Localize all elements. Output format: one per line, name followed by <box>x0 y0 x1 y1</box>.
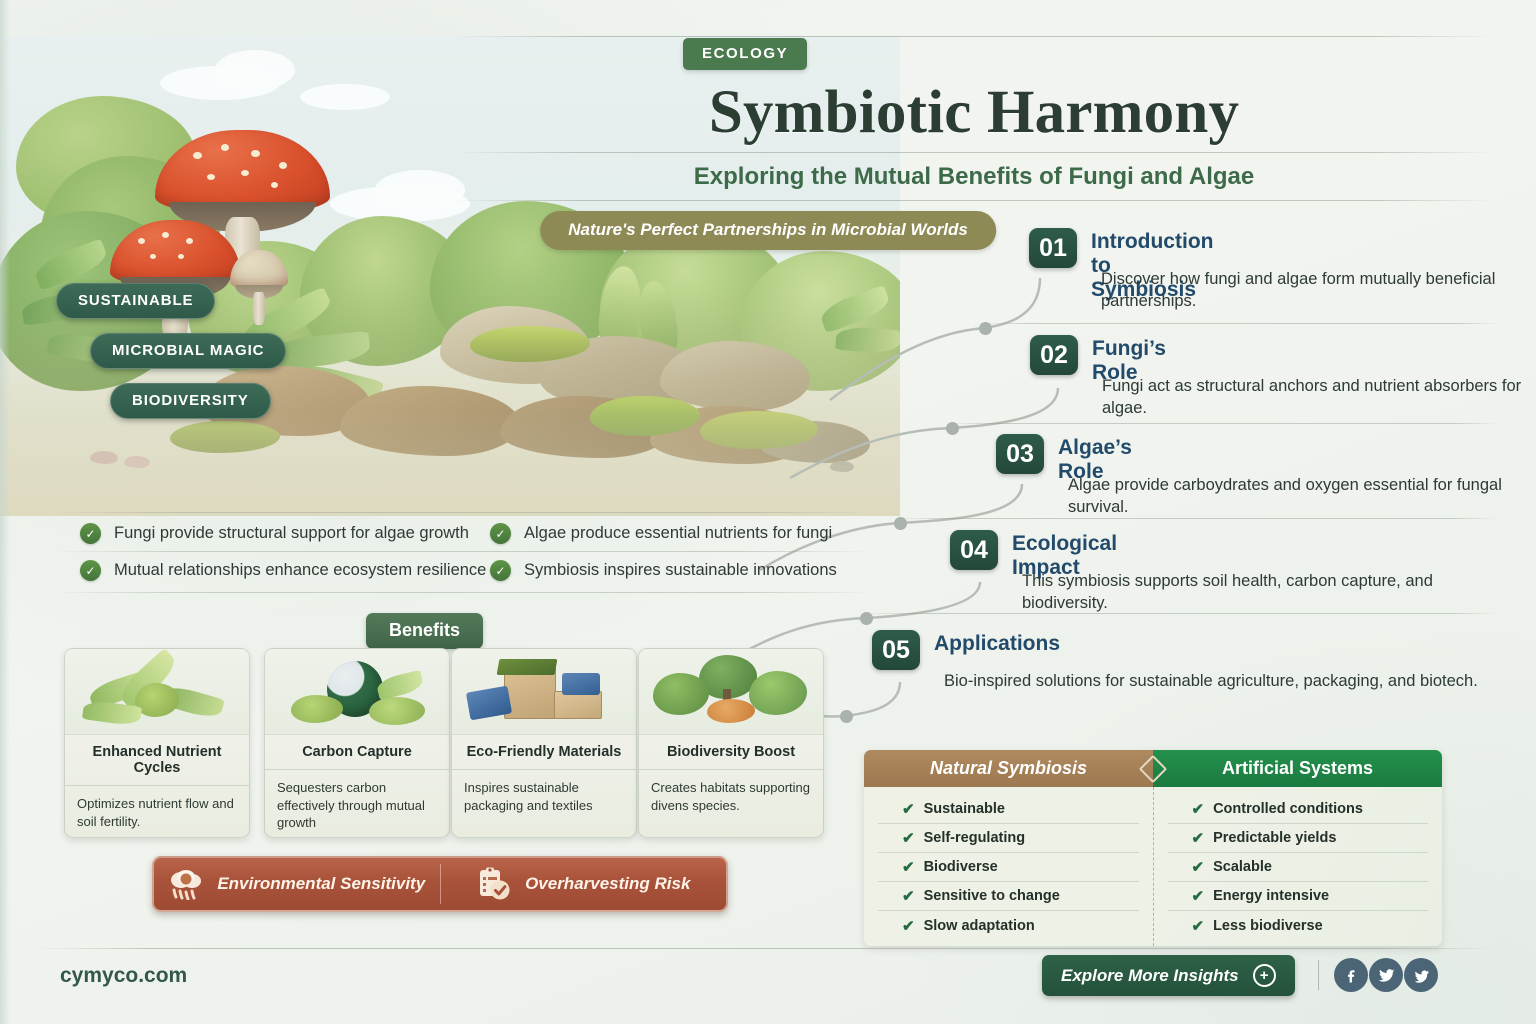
hero-tag-microbial-magic[interactable]: MICROBIAL MAGIC <box>90 333 286 369</box>
benefit-card[interactable]: Eco-Friendly Materials Inspires sustaina… <box>451 648 637 838</box>
comparison-row: ✔Slow adaptation <box>878 911 1139 940</box>
mushroom-spot <box>271 182 278 188</box>
check-icon: ✔ <box>1192 887 1205 905</box>
checklist-label: Fungi provide structural support for alg… <box>114 524 469 543</box>
twitter-bird-glyph <box>1377 966 1396 985</box>
mushroom-spot <box>178 254 184 259</box>
benefits-section-badge: Benefits <box>366 613 483 649</box>
comparison-label: Biodiverse <box>924 859 998 875</box>
benefit-description: Inspires sustainable packaging and texti… <box>452 770 636 823</box>
check-icon: ✓ <box>80 560 101 581</box>
comparison-label: Self-regulating <box>924 830 1026 846</box>
risk-banner: Environmental Sensitivity Overharvesting… <box>152 856 728 912</box>
comparison-row: ✔Less biodiverse <box>1168 911 1429 940</box>
comparison-label: Controlled conditions <box>1213 801 1363 817</box>
step-description: Fungi act as structural anchors and nutr… <box>1102 375 1536 420</box>
connector-dot <box>840 710 853 723</box>
benefit-thumbnail <box>265 649 449 735</box>
facebook-icon[interactable] <box>1334 958 1368 992</box>
infographic-canvas: ECOLOGY Symbiotic Harmony Exploring the … <box>0 0 1536 1024</box>
comparison-label: Predictable yields <box>1213 830 1336 846</box>
benefit-description: Creates habitats supporting divens speci… <box>639 770 823 823</box>
mushroom-spot <box>221 144 229 151</box>
checklist-label: Mutual relationships enhance ecosystem r… <box>114 561 486 580</box>
footer-separator <box>1318 960 1319 990</box>
moss-icon <box>291 695 343 723</box>
step-number-badge: 01 <box>1029 228 1077 268</box>
benefit-title: Enhanced Nutrient Cycles <box>65 735 249 786</box>
explore-more-button[interactable]: Explore More Insights + <box>1042 955 1295 996</box>
mushroom-spot <box>138 238 145 244</box>
comparison-row: ✔Predictable yields <box>1168 824 1429 853</box>
step-divider <box>894 518 1498 519</box>
comparison-label: Scalable <box>1213 859 1272 875</box>
twitter-icon[interactable] <box>1369 958 1403 992</box>
cloud-icon <box>215 50 295 90</box>
mushroom-spot <box>207 174 215 180</box>
checklist-mid-rule <box>62 551 862 552</box>
tagline-badge: Nature's Perfect Partnerships in Microbi… <box>540 211 996 250</box>
comparison-column-natural: ✔Sustainable ✔Self-regulating ✔Biodivers… <box>864 787 1154 946</box>
check-icon: ✓ <box>490 523 511 544</box>
comparison-table: Natural Symbiosis Artificial Systems ✔Su… <box>864 750 1442 946</box>
comparison-row: ✔Sensitive to change <box>878 882 1139 911</box>
hero-tag-biodiversity[interactable]: BIODIVERSITY <box>110 383 271 419</box>
fungus-cluster-icon <box>707 699 755 723</box>
comparison-row: ✔Biodiverse <box>878 853 1139 882</box>
benefit-description: Sequesters carbon effectively through mu… <box>265 770 449 838</box>
risk-item[interactable]: Environmental Sensitivity <box>154 868 440 900</box>
benefit-card[interactable]: Enhanced Nutrient Cycles Optimizes nutri… <box>64 648 250 838</box>
twitter-alt-icon[interactable] <box>1404 958 1438 992</box>
check-icon: ✔ <box>902 917 915 935</box>
benefit-card[interactable]: Biodiversity Boost Creates habitats supp… <box>638 648 824 838</box>
checklist-top-rule <box>62 512 862 513</box>
benefit-thumbnail <box>452 649 636 735</box>
footer-divider <box>36 948 1500 949</box>
algae-cluster-icon <box>135 683 179 717</box>
check-icon: ✓ <box>490 560 511 581</box>
clipboard-check-icon <box>476 866 512 902</box>
step-number-badge: 02 <box>1030 335 1078 375</box>
step-divider <box>860 613 1498 614</box>
check-icon: ✔ <box>902 887 915 905</box>
check-icon: ✔ <box>1192 858 1205 876</box>
comparison-label: Sustainable <box>924 801 1005 817</box>
check-icon: ✔ <box>1192 917 1205 935</box>
hero-tag-sustainable[interactable]: SUSTAINABLE <box>56 283 215 319</box>
step-description: This symbiosis supports soil health, car… <box>1022 570 1482 615</box>
benefit-title: Eco-Friendly Materials <box>452 735 636 770</box>
facebook-glyph <box>1342 966 1360 984</box>
checklist-label: Algae produce essential nutrients for fu… <box>524 524 832 543</box>
step-divider <box>978 323 1498 324</box>
benefit-title: Biodiversity Boost <box>639 735 823 770</box>
benefit-card[interactable]: Carbon Capture Sequesters carbon effecti… <box>264 648 450 838</box>
comparison-label: Less biodiverse <box>1213 918 1323 934</box>
category-badge: ECOLOGY <box>683 38 807 70</box>
cloud-icon <box>300 84 390 110</box>
comparison-row: ✔Controlled conditions <box>1168 795 1429 824</box>
comparison-header-left: Natural Symbiosis <box>864 750 1153 787</box>
comparison-column-artificial: ✔Controlled conditions ✔Predictable yiel… <box>1154 787 1443 946</box>
check-icon: ✔ <box>902 800 915 818</box>
step-title: Applications <box>934 632 1060 656</box>
shrub-icon <box>749 671 807 715</box>
twitter-bird-alt-glyph <box>1412 966 1431 985</box>
mushroom-spot <box>251 150 260 157</box>
box-lid-icon <box>497 659 558 675</box>
shrub-icon <box>653 673 709 715</box>
mushroom-spot <box>193 152 202 159</box>
crate-icon <box>562 673 600 695</box>
checklist-item: ✓ Algae produce essential nutrients for … <box>490 523 832 544</box>
comparison-row: ✔Self-regulating <box>878 824 1139 853</box>
subtitle-underline-rule <box>452 200 1496 201</box>
comparison-label: Sensitive to change <box>924 888 1060 904</box>
check-icon: ✔ <box>1192 829 1205 847</box>
benefit-thumbnail <box>639 649 823 735</box>
benefit-thumbnail <box>65 649 249 735</box>
checklist-bottom-rule <box>62 592 862 593</box>
page-title: Symbiotic Harmony <box>452 78 1496 148</box>
mushroom-spot <box>162 232 169 238</box>
box-icon <box>554 691 602 719</box>
comparison-label: Slow adaptation <box>924 918 1035 934</box>
brand-label: cymyco.com <box>60 964 187 988</box>
page-subtitle: Exploring the Mutual Benefits of Fungi a… <box>452 163 1496 191</box>
left-edge-shade <box>0 0 10 1024</box>
leaf-icon <box>375 670 424 701</box>
title-underline-rule <box>452 152 1496 153</box>
risk-label: Overharvesting Risk <box>525 874 690 894</box>
mushroom-spot <box>279 162 287 169</box>
comparison-header-right: Artificial Systems <box>1153 750 1442 787</box>
check-icon: ✔ <box>1192 800 1205 818</box>
step-divider <box>946 423 1498 424</box>
check-icon: ✔ <box>902 858 915 876</box>
step-number-badge: 05 <box>872 630 920 670</box>
benefit-title: Carbon Capture <box>265 735 449 770</box>
cloud-rain-icon <box>168 868 204 900</box>
checklist-label: Symbiosis inspires sustainable innovatio… <box>524 561 837 580</box>
comparison-row: ✔Energy intensive <box>1168 882 1429 911</box>
benefit-description: Optimizes nutrient flow and soil fertili… <box>65 786 249 838</box>
cta-label: Explore More Insights <box>1061 966 1239 986</box>
comparison-header: Natural Symbiosis Artificial Systems <box>864 750 1442 787</box>
check-icon: ✔ <box>902 829 915 847</box>
checklist-item: ✓ Symbiosis inspires sustainable innovat… <box>490 560 837 581</box>
step-description: Bio-inspired solutions for sustainable a… <box>944 670 1514 692</box>
mushroom-spot <box>186 238 193 244</box>
header-top-rule <box>452 36 1496 37</box>
step-description: Algae provide carboydrates and oxygen es… <box>1068 474 1528 519</box>
mushroom-spot <box>150 254 156 259</box>
risk-item[interactable]: Overharvesting Risk <box>441 866 727 902</box>
risk-label: Environmental Sensitivity <box>217 874 425 894</box>
checklist-item: ✓ Fungi provide structural support for a… <box>80 523 469 544</box>
comparison-row: ✔Sustainable <box>878 795 1139 824</box>
comparison-body: ✔Sustainable ✔Self-regulating ✔Biodivers… <box>864 787 1442 946</box>
plus-circle-icon: + <box>1253 964 1276 987</box>
check-icon: ✓ <box>80 523 101 544</box>
comparison-row: ✔Scalable <box>1168 853 1429 882</box>
moss-icon <box>369 697 425 725</box>
step-number-badge: 04 <box>950 530 998 570</box>
checklist-item: ✓ Mutual relationships enhance ecosystem… <box>80 560 486 581</box>
comparison-label: Energy intensive <box>1213 888 1329 904</box>
step-number-badge: 03 <box>996 434 1044 474</box>
mushroom-spot <box>241 170 249 176</box>
step-description: Discover how fungi and algae form mutual… <box>1101 268 1536 313</box>
